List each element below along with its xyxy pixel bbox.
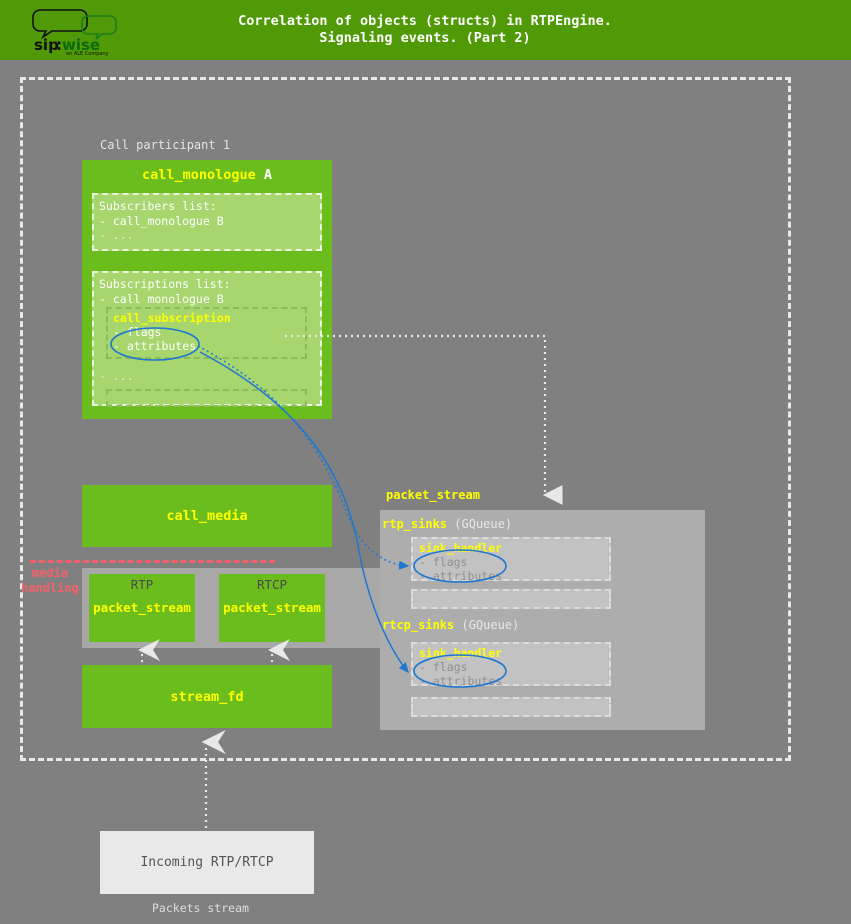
sipwise-logo: sip : wise an ALE Company <box>30 4 128 56</box>
call-monologue-title-suffix: A <box>264 167 272 183</box>
call-subscription-box-placeholder <box>106 389 307 407</box>
page-header: sip : wise an ALE Company Correlation of… <box>0 0 851 60</box>
rtcp-kind-label: RTCP <box>219 577 325 592</box>
rtp-packet-stream-title: packet_stream <box>89 600 195 615</box>
stream-fd-box: stream_fd <box>82 665 332 728</box>
rtp-sinks-name: rtp_sinks <box>382 517 447 531</box>
incoming-rtp-rtcp-label: Incoming RTP/RTCP <box>140 855 273 870</box>
call-monologue-title-code: call_monologue <box>142 167 256 183</box>
rtcp-sink-handler-attributes: - attributes <box>419 674 603 688</box>
subscribers-list-box: Subscribers list: - call_monologue B - .… <box>92 193 322 251</box>
subscriptions-list-box: Subscriptions list: - call monologue B c… <box>92 271 322 406</box>
rtp-sink-handler-box: sink_handler - flags - attributes <box>411 537 611 581</box>
media-handling-divider <box>30 560 275 563</box>
subscribers-item-0: - call_monologue B <box>99 214 315 229</box>
call-subscription-title: call_subscription <box>108 309 305 325</box>
rtp-sink-handler-placeholder <box>411 589 611 609</box>
rtp-sink-handler-flags: - flags <box>419 555 603 569</box>
call-media-title: call_media <box>82 508 332 524</box>
packet-stream-panel: rtp_sinks (GQueue) sink_handler - flags … <box>380 510 705 730</box>
media-handling-label-line-2: handling <box>18 581 82 596</box>
incoming-rtp-rtcp-box: Incoming RTP/RTCP <box>100 831 314 894</box>
subscriptions-item-1: - ... <box>99 369 134 384</box>
rtcp-sinks-type: (GQueue) <box>461 618 519 632</box>
rtp-sinks-label: rtp_sinks (GQueue) <box>382 517 512 531</box>
stream-fd-title: stream_fd <box>82 689 332 705</box>
rtcp-sink-handler-flags: - flags <box>419 660 603 674</box>
rtcp-sink-handler-placeholder <box>411 697 611 717</box>
call-monologue-title: call_monologue A <box>82 167 332 183</box>
call-media-box: call_media <box>82 485 332 547</box>
rtcp-sinks-label: rtcp_sinks (GQueue) <box>382 618 519 632</box>
rtp-sinks-type: (GQueue) <box>454 517 512 531</box>
rtp-packet-stream-box: RTP packet_stream <box>89 574 195 642</box>
rtp-kind-label: RTP <box>89 577 195 592</box>
media-handling-label: media handling <box>18 566 82 596</box>
subscriptions-heading: Subscriptions list: <box>99 277 315 292</box>
rtcp-sink-handler-box: sink_handler - flags - attributes <box>411 642 611 686</box>
packets-stream-caption: Packets stream <box>152 901 249 915</box>
rtp-sink-handler-attributes: - attributes <box>419 569 603 583</box>
rtp-sink-handler-title: sink_handler <box>419 541 603 555</box>
rtcp-sinks-name: rtcp_sinks <box>382 618 454 632</box>
rtcp-sink-handler-title: sink_handler <box>419 646 603 660</box>
media-handling-label-line-1: media <box>18 566 82 581</box>
logo-tagline: an ALE Company <box>66 51 109 56</box>
title-line-1: Correlation of objects (structs) in RTPE… <box>238 13 612 30</box>
page-title: Correlation of objects (structs) in RTPE… <box>150 0 700 60</box>
subscribers-item-1: - ... <box>99 228 315 243</box>
title-line-2: Signaling events. (Part 2) <box>319 30 530 47</box>
call-participant-label: Call participant 1 <box>100 138 230 152</box>
subscriptions-item-0: - call monologue B <box>99 292 315 307</box>
call-subscription-box: call_subscription - flags - attributes <box>106 307 307 359</box>
rtcp-packet-stream-box: RTCP packet_stream <box>219 574 325 642</box>
subscribers-heading: Subscribers list: <box>99 199 315 214</box>
rtcp-packet-stream-title: packet_stream <box>219 600 325 615</box>
call-monologue-box: call_monologue A Subscribers list: - cal… <box>82 160 332 419</box>
call-subscription-flags: - flags <box>108 325 305 339</box>
call-subscription-attributes: - attributes <box>108 339 305 353</box>
packet-stream-panel-label: packet_stream <box>386 488 480 502</box>
